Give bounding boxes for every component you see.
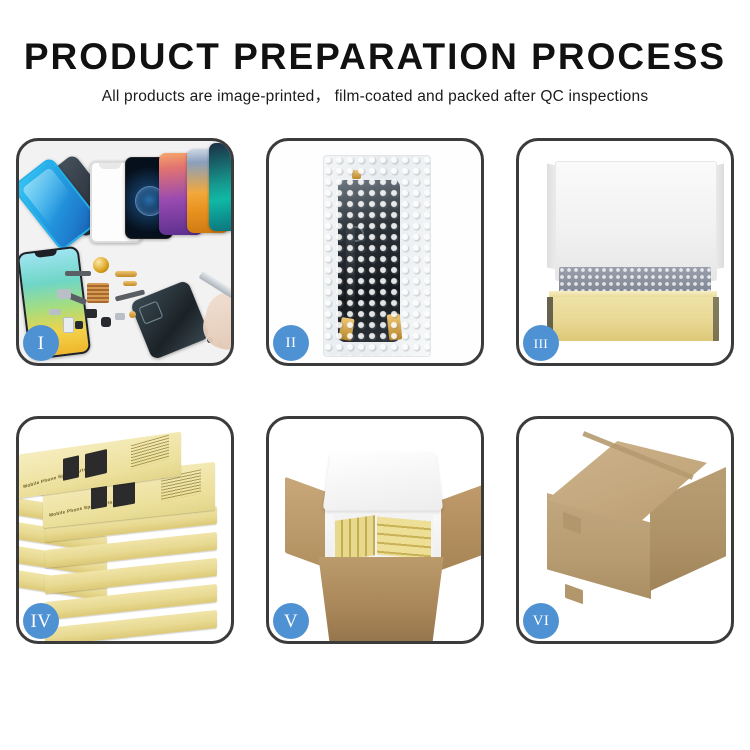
bubble-wrap-bag (323, 155, 431, 357)
step-badge-5: V (273, 603, 309, 639)
page-subtitle: All products are image-printed， film-coa… (0, 84, 750, 106)
part-screw-1 (129, 311, 136, 318)
step-badge-6: VI (523, 603, 559, 639)
step-panel-5: V (266, 416, 484, 644)
phone-teal-icon (209, 143, 231, 231)
header: PRODUCT PREPARATION PROCESS All products… (0, 36, 750, 106)
box-window-1 (63, 455, 79, 481)
carton-tab-bottom (565, 584, 583, 605)
inner-box-stack-left (335, 515, 375, 559)
coil-part-icon (93, 257, 109, 273)
step-badge-1: I (23, 325, 59, 361)
part-connector-3 (49, 309, 61, 315)
box-window-2 (85, 449, 107, 478)
step-badge-2: II (273, 325, 309, 361)
part-connector-2 (115, 313, 125, 320)
foam-box-lid (323, 452, 444, 511)
step-panel-4: Mobile Phone Spare Parts Mobile Phone Sp… (16, 416, 234, 644)
chip-part-icon (87, 283, 109, 303)
step-panel-6: VI (516, 416, 734, 644)
step-panel-2: II (266, 138, 484, 366)
part-ic-3 (75, 321, 83, 329)
product-preparation-infographic: PRODUCT PREPARATION PROCESS All products… (0, 0, 750, 750)
hand-icon (198, 286, 231, 354)
part-flex-1 (115, 271, 137, 277)
box-white-lid (555, 161, 717, 281)
box-spec-lines-1 (131, 435, 169, 470)
foam-box-contents (333, 515, 433, 559)
box-window-3 (91, 485, 107, 510)
part-ic-2 (101, 317, 111, 327)
inner-box-stack-right (377, 517, 431, 559)
carton-body (313, 557, 449, 641)
step-panel-3: III (516, 138, 734, 366)
bubble-texture-icon (324, 156, 430, 356)
part-flex-2 (123, 281, 137, 286)
process-steps-grid: I II (16, 138, 734, 674)
box-yellow-front (547, 297, 719, 341)
step-badge-4: IV (23, 603, 59, 639)
part-connector-1 (57, 289, 71, 299)
step-panel-1: I (16, 138, 234, 366)
step-badge-3: III (523, 325, 559, 361)
part-camera-1 (63, 317, 74, 333)
part-bar-1 (65, 271, 91, 276)
part-ic-1 (85, 309, 97, 318)
page-title: PRODUCT PREPARATION PROCESS (0, 36, 750, 78)
